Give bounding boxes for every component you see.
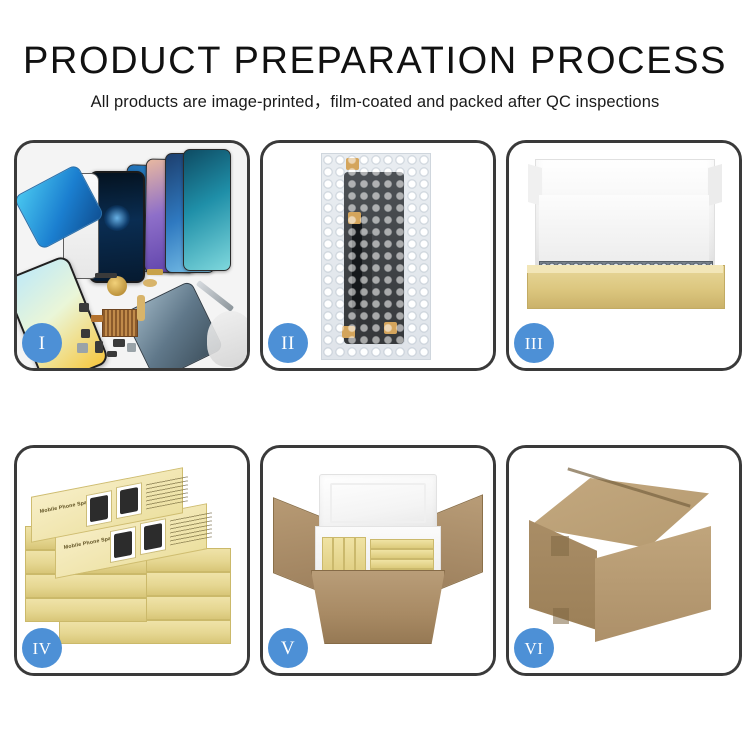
box-window [86,490,112,527]
packed-box [370,539,434,549]
adhesive-tab [384,322,397,334]
step-panel-3[interactable]: III [506,140,742,371]
small-part [79,303,89,312]
packed-box [370,549,434,559]
step-badge-3: III [514,323,554,363]
adhesive-tab [348,212,361,224]
logic-board-part [102,309,138,337]
header: PRODUCT PREPARATION PROCESS All products… [0,0,750,112]
small-part [91,315,103,322]
product-preparation-process-page: PRODUCT PREPARATION PROCESS All products… [0,0,750,750]
flex-cable-part [352,214,362,309]
box-edge [25,598,147,622]
small-part [147,269,163,275]
flex-cable-part [137,295,145,321]
packed-box [370,559,434,569]
outer-carton-body [311,570,445,644]
step-badge-4: IV [22,628,62,668]
box-edge [25,574,147,598]
step-badge-5: V [268,628,308,668]
step-panel-1[interactable]: I [14,140,250,371]
small-part [143,279,157,287]
box-spec-lines [146,475,188,509]
process-steps-grid: I II [14,140,736,685]
carton-tape [551,536,569,556]
small-part [127,343,136,352]
step-badge-6: VI [514,628,554,668]
box-window [116,482,142,519]
step-panel-5[interactable]: V [260,445,496,676]
small-part [107,351,117,357]
adhesive-tab [346,158,359,170]
box-window [110,526,136,563]
small-part [81,329,90,338]
small-part [95,341,103,353]
foam-sheet [539,195,709,263]
step-badge-2: II [268,323,308,363]
kraft-box-rim [527,265,723,273]
speaker-coil-part [107,276,127,296]
step-panel-4[interactable]: Mobile Phone Spare Parts Mobile Phone Sp… [14,445,250,676]
page-subtitle: All products are image-printed，film-coat… [0,82,750,112]
small-part [95,273,117,278]
box-window [140,518,166,555]
foam-box-lid [319,474,437,534]
page-title: PRODUCT PREPARATION PROCESS [0,0,750,82]
bubble-wrap-bag [321,153,431,360]
hand-graphic [207,311,247,367]
step-panel-2[interactable]: II [260,140,496,371]
step-panel-6[interactable]: VI [506,445,742,676]
carton-right-face [595,526,711,642]
adhesive-tab [342,326,355,338]
small-part [77,343,88,353]
box-edge [59,620,231,644]
small-part [113,339,125,347]
box-stack: Mobile Phone Spare Parts Mobile Phone Sp… [25,470,239,660]
phone-graphic [183,149,231,271]
carton-tape [553,608,569,624]
box-spec-lines [170,511,212,545]
step-badge-1: I [22,323,62,363]
